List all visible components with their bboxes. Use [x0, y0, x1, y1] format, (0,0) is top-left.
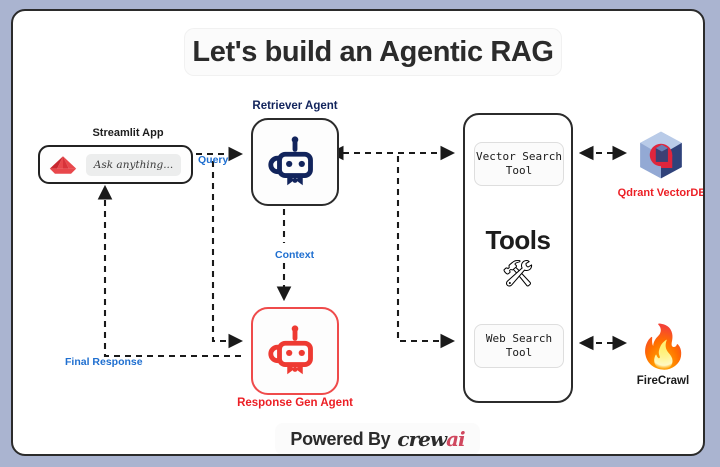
qdrant-hexagon-icon	[635, 129, 687, 181]
crewai-logo-crew: crew	[397, 427, 446, 451]
response-gen-agent-card[interactable]	[251, 307, 339, 395]
page-title-text: Let's build an Agentic RAG	[192, 36, 553, 69]
fire-icon: 🔥	[637, 321, 689, 373]
streamlit-crown-icon	[48, 154, 78, 176]
streamlit-app-box[interactable]: Ask anything...	[38, 145, 193, 184]
search-input[interactable]: Ask anything...	[86, 154, 181, 176]
qdrant-label: Qdrant VectorDB	[603, 187, 705, 199]
hammer-and-wrench-icon: 🛠	[465, 260, 571, 286]
tools-heading: Tools	[465, 225, 571, 256]
diagram-canvas: Let's build an Agentic RAG Streamlit App…	[11, 9, 705, 456]
edge-label-context: Context	[275, 249, 314, 261]
edge-label-final-response: Final Response	[65, 356, 143, 368]
response-gen-agent-label: Response Gen Agent	[225, 397, 365, 409]
streamlit-app-label: Streamlit App	[53, 127, 203, 139]
retriever-agent-card[interactable]	[251, 118, 339, 206]
vector-tool-line2: Tool	[506, 164, 533, 177]
tools-panel: Vector Search Tool Tools 🛠 Web Search To…	[463, 113, 573, 403]
powered-by-text: Powered By	[290, 429, 390, 450]
retriever-agent-label: Retriever Agent	[231, 100, 359, 112]
robot-icon	[264, 131, 326, 193]
vector-tool-line1: Vector Search	[476, 150, 562, 163]
robot-icon	[264, 320, 326, 382]
vector-search-tool-chip[interactable]: Vector Search Tool	[474, 142, 564, 186]
footer-powered-by: Powered By crewai	[275, 423, 480, 455]
crewai-logo: crewai	[397, 427, 464, 451]
edge-label-query: Query	[198, 154, 228, 166]
connector-wires	[13, 11, 703, 454]
web-tool-line1: Web Search	[486, 332, 552, 345]
web-search-tool-chip[interactable]: Web Search Tool	[474, 324, 564, 368]
firecrawl-label: FireCrawl	[613, 375, 705, 387]
crewai-logo-ai: ai	[446, 427, 465, 451]
web-tool-line2: Tool	[506, 346, 533, 359]
page-title: Let's build an Agentic RAG	[185, 29, 561, 75]
